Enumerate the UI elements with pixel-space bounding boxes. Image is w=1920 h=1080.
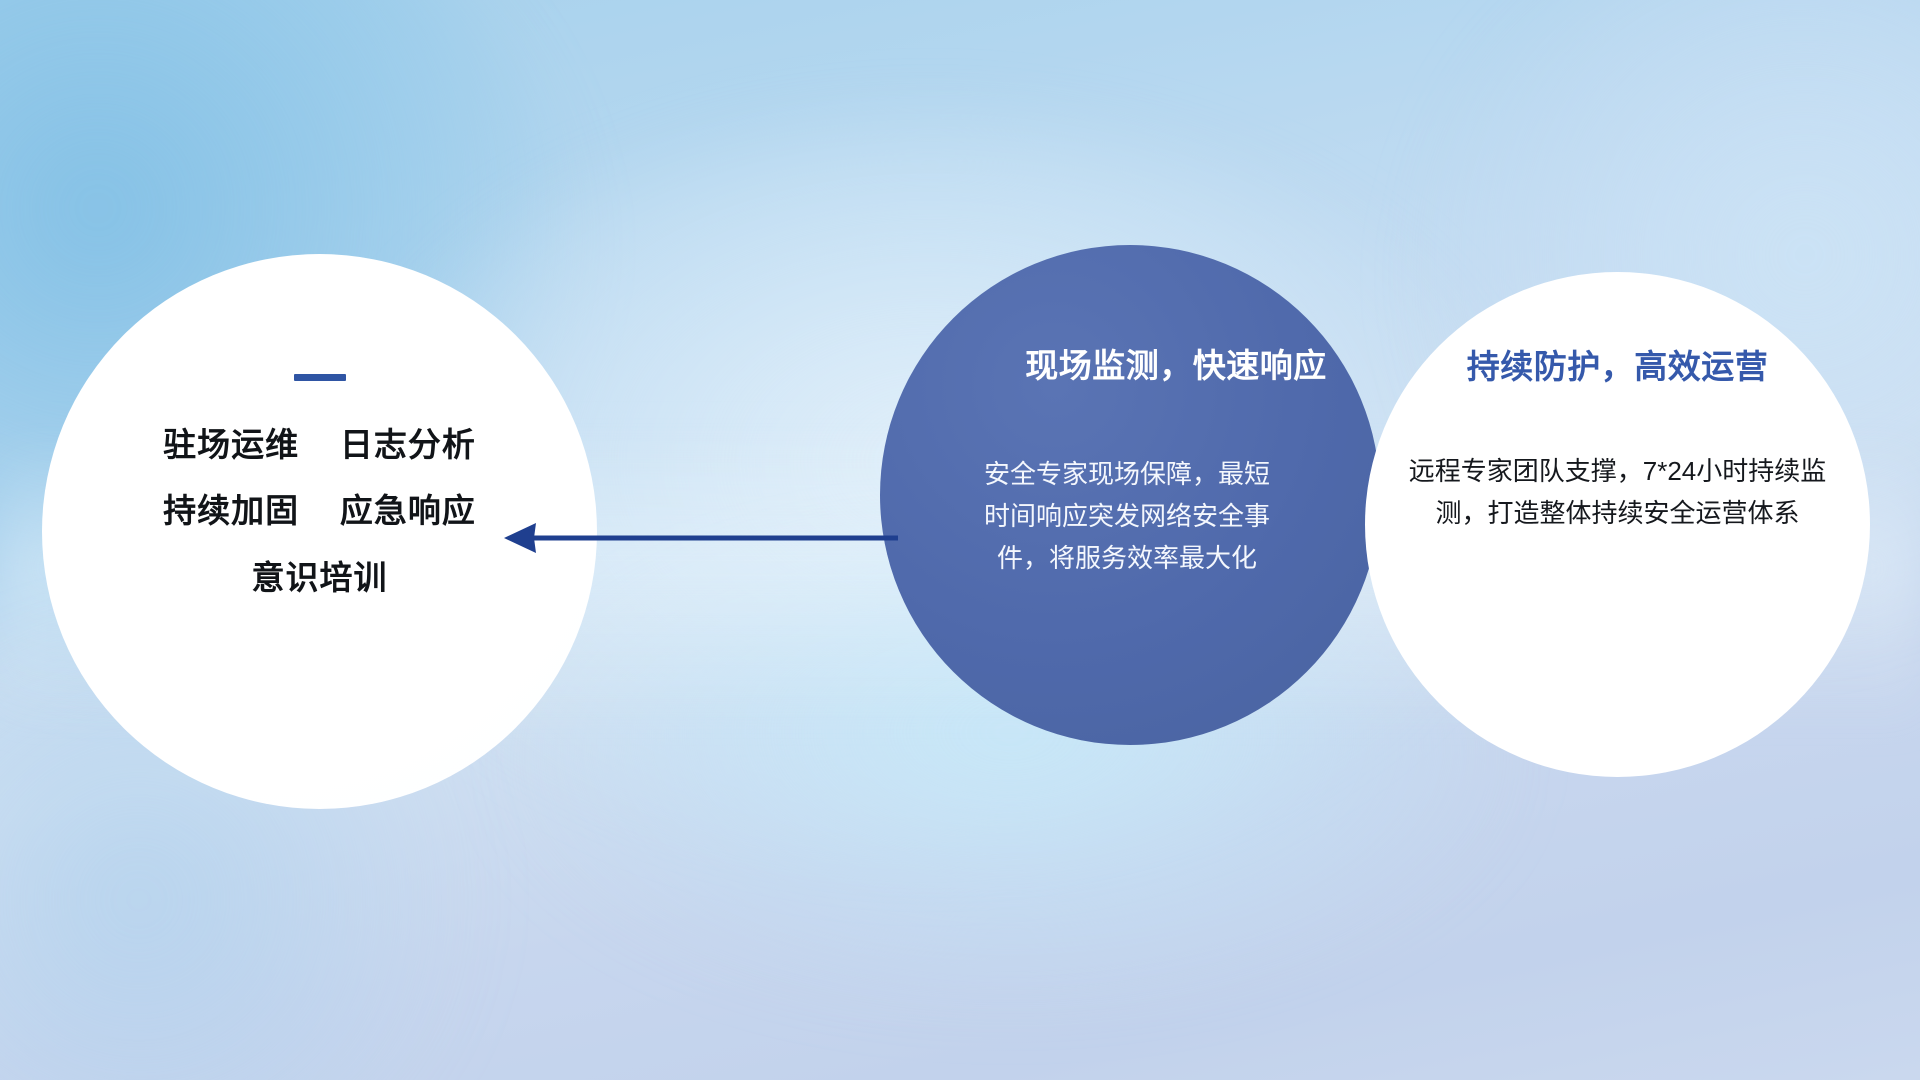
left-keyword-line-1: 驻场运维 日志分析 (163, 427, 476, 463)
middle-card-body: 安全专家现场保障，最短时间响应突发网络安全事件，将服务效率最大化 (982, 453, 1272, 579)
middle-card-title: 现场监测，快速响应 (1000, 339, 1352, 387)
right-card-title: 持续防护，高效运营 (1395, 340, 1840, 388)
divider-dash-icon (294, 374, 346, 381)
right-card-body: 远程专家团队支撑，7*24小时持续监测，打造整体持续安全运营体系 (1395, 450, 1840, 534)
left-keyword-line-2: 持续加固 应急响应 (163, 493, 476, 529)
slide-canvas: 驻场运维 日志分析 持续加固 应急响应 意识培训 现场监测，快速响应 安全专家现… (0, 0, 1920, 1080)
left-keyword-card: 驻场运维 日志分析 持续加固 应急响应 意识培训 (42, 254, 597, 809)
right-card: 持续防护，高效运营 远程专家团队支撑，7*24小时持续监测，打造整体持续安全运营… (1365, 272, 1870, 777)
middle-card: 现场监测，快速响应 安全专家现场保障，最短时间响应突发网络安全事件，将服务效率最… (880, 245, 1380, 745)
left-keyword-line-3: 意识培训 (252, 560, 388, 596)
